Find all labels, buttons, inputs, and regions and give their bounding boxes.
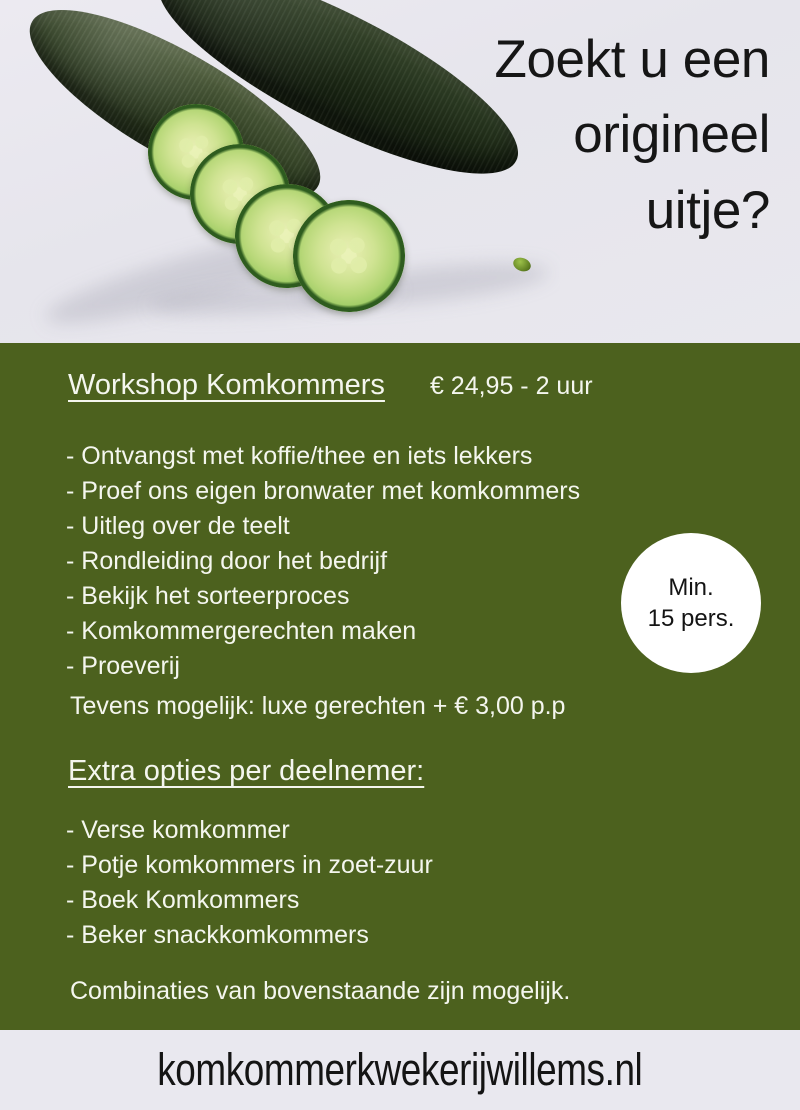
minimum-persons-badge: Min. 15 pers. — [621, 533, 761, 673]
headline-line-2: origineel — [350, 97, 770, 172]
badge-line-2: 15 pers. — [648, 603, 735, 634]
list-item: - Bekijk het sorteerproces — [66, 579, 580, 614]
headline-line-3: uitje? — [350, 173, 770, 248]
list-item: - Uitleg over de teelt — [66, 509, 580, 544]
workshop-price: € 24,95 - 2 uur — [430, 372, 593, 401]
hero-section: Zoekt u een origineel uitje? — [0, 0, 800, 343]
list-item: - Verse komkommer — [66, 813, 433, 848]
website-url[interactable]: komkommerkwekerijwillems.nl — [157, 1044, 642, 1096]
headline: Zoekt u een origineel uitje? — [350, 22, 770, 248]
list-item: - Proeverij — [66, 649, 580, 684]
list-item: - Komkommergerechten maken — [66, 614, 580, 649]
extra-options-list: - Verse komkommer - Potje komkommers in … — [66, 813, 433, 953]
list-item: - Potje komkommers in zoet-zuur — [66, 848, 433, 883]
badge-line-1: Min. — [668, 572, 713, 603]
list-item: - Beker snackkomkommers — [66, 918, 433, 953]
closing-note: Combinaties van bovenstaande zijn mogeli… — [70, 977, 570, 1006]
list-item: - Rondleiding door het bedrijf — [66, 544, 580, 579]
list-item: - Proef ons eigen bronwater met komkomme… — [66, 474, 580, 509]
workshop-title: Workshop Komkommers — [68, 369, 385, 402]
workshop-header: Workshop Komkommers € 24,95 - 2 uur — [68, 369, 593, 402]
headline-line-1: Zoekt u een — [350, 22, 770, 97]
footer-bar: komkommerkwekerijwillems.nl — [0, 1030, 800, 1110]
list-item: - Boek Komkommers — [66, 883, 433, 918]
workshop-includes-list: - Ontvangst met koffie/thee en iets lekk… — [66, 439, 580, 684]
list-item: - Ontvangst met koffie/thee en iets lekk… — [66, 439, 580, 474]
luxury-option-note: Tevens mogelijk: luxe gerechten + € 3,00… — [70, 692, 565, 721]
extra-options-heading: Extra opties per deelnemer: — [68, 755, 424, 788]
flyer-poster: Zoekt u een origineel uitje? Workshop Ko… — [0, 0, 800, 1110]
workshop-panel: Workshop Komkommers € 24,95 - 2 uur - On… — [0, 343, 800, 1030]
